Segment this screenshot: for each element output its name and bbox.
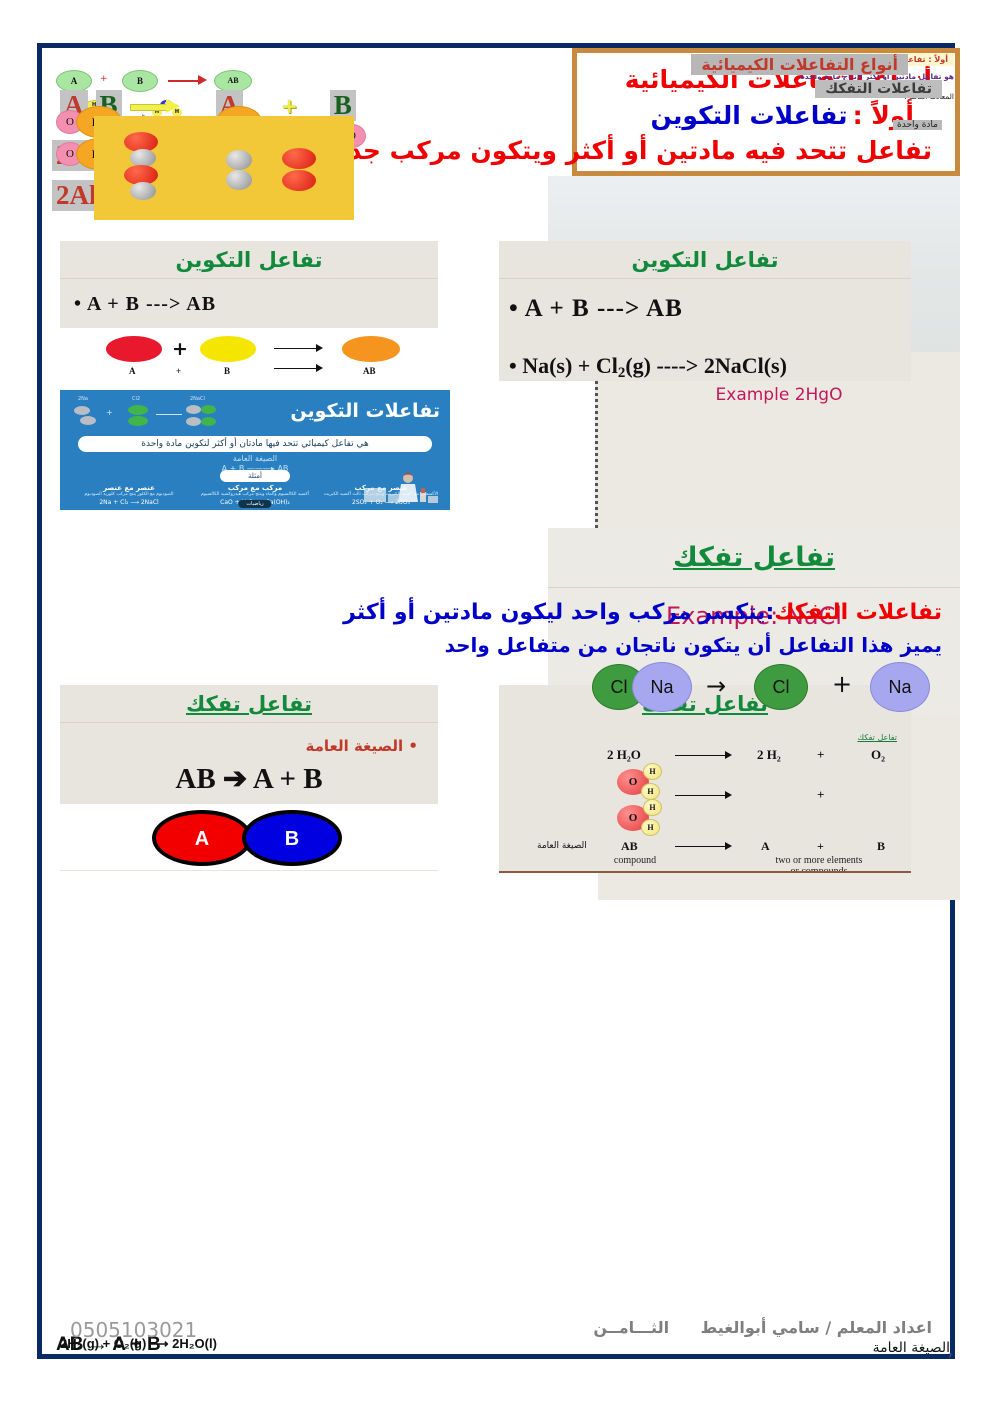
arrow-top bbox=[274, 348, 318, 349]
equations-banner: أنواع التفاعلات الكيميائية bbox=[691, 54, 908, 75]
arrow-top-head bbox=[316, 344, 323, 352]
footer-credit: اعداد المعلم / سامي أبوالغيط الثـــامــن bbox=[593, 1318, 932, 1337]
nacl-na-1 bbox=[186, 405, 201, 414]
nacl-cl-1 bbox=[201, 405, 216, 414]
dec-left-small-label: تفاعل تفكك bbox=[857, 733, 897, 742]
hydrogen-atom-1: H bbox=[643, 763, 662, 780]
slide-circle-b: B bbox=[122, 70, 158, 92]
hydrogen-atom-4: H bbox=[641, 819, 660, 836]
dec-right-equation: AB ➔ A + B bbox=[60, 761, 438, 796]
column-equation: 2Na + Cl₂ ⟶ 2NaCl bbox=[66, 499, 192, 506]
dec-left-plus-3: + bbox=[817, 839, 824, 854]
formation-right-title: تفاعل التكوين bbox=[60, 241, 438, 272]
formation-panel-shapes: تفاعل التكوين • A + B ---> AB A + + B AB bbox=[60, 241, 438, 381]
nacl-na-2 bbox=[186, 417, 201, 426]
mol-label-cl2: Cl2 bbox=[132, 396, 140, 402]
infographic-molecules: 2Na + Cl2 2NaCl bbox=[70, 396, 270, 438]
cl-atom-2 bbox=[128, 416, 148, 426]
plus-sign-bottom: + bbox=[176, 366, 181, 376]
nacl-cl-2 bbox=[201, 417, 216, 426]
hgo-example: Example 2HgO bbox=[598, 385, 960, 405]
water-plus-2: + bbox=[817, 787, 824, 803]
formation-infographic: تفاعلات التكوين 2Na + Cl2 2NaCl هي تفاعل… bbox=[60, 390, 450, 510]
water-product-h2: 2 H₂ bbox=[757, 747, 781, 763]
bead-gray-3 bbox=[226, 150, 252, 170]
na-atom-1 bbox=[74, 406, 90, 415]
infographic-definition: هي تفاعل كيميائي تتحد فيها مادتان أو أكث… bbox=[78, 436, 432, 452]
infographic-title: تفاعلات التكوين bbox=[290, 400, 440, 422]
dec-arrow-1-head bbox=[725, 751, 732, 759]
dec-arrow-3-head bbox=[725, 842, 732, 850]
bead-gray-2 bbox=[130, 182, 156, 200]
water-product-o2: O₂ bbox=[871, 747, 885, 763]
plus-1: + bbox=[281, 94, 298, 118]
slide-circle-ab: AB bbox=[214, 70, 252, 92]
column-heading: عنصر مع عنصر bbox=[66, 484, 192, 492]
ellipse-ab bbox=[342, 336, 400, 362]
decomposition-heading-line-1: تفاعلات التفكك:يتكسر مركب واحد ليكون ماد… bbox=[224, 596, 942, 629]
dec-arrow-1 bbox=[675, 755, 727, 756]
dec-arrow-3 bbox=[675, 846, 727, 847]
yellow-arrow-1 bbox=[130, 101, 182, 111]
dec-right-general-label: • الصيغة العامة bbox=[60, 723, 438, 755]
bead-red-3 bbox=[282, 148, 316, 169]
decomposition-sep: : bbox=[765, 600, 774, 625]
decomposition-heading: تفاعلات التفكك:يتكسر مركب واحد ليكون ماد… bbox=[224, 596, 942, 661]
caption-compound: compound bbox=[595, 855, 675, 866]
formation-shape-diagram: A + + B AB bbox=[60, 328, 438, 381]
arrow-bottom-head bbox=[316, 364, 323, 372]
nacl-na-free: Na bbox=[870, 662, 930, 712]
bead-red-4 bbox=[282, 170, 316, 191]
formation-left-title: تفاعل التكوين bbox=[499, 241, 911, 272]
nacl-plus: + bbox=[832, 670, 852, 698]
eq-pre: • Na(s) + Cl bbox=[509, 353, 618, 378]
ellipse-a bbox=[106, 336, 162, 362]
formation-general-equation: • A + B ---> AB bbox=[509, 295, 911, 323]
column-desc: الصوديوم مع الكلور ينتج مركب كلوريد الصو… bbox=[66, 492, 192, 498]
ellipse-b bbox=[200, 336, 256, 362]
nacl-na-bound: Na bbox=[632, 662, 692, 712]
dec-left-ab: AB bbox=[621, 839, 638, 854]
lobe-b: B bbox=[242, 810, 342, 866]
slide-arrow-head bbox=[198, 75, 207, 85]
nacl-cl-free: Cl bbox=[754, 664, 808, 710]
mol-plus: + bbox=[106, 408, 113, 417]
arrow-bottom bbox=[274, 368, 318, 369]
infographic-examples-pill: أمثلة bbox=[220, 470, 290, 482]
ellipse-ab-label: AB bbox=[363, 366, 376, 376]
hydrogen-atom-2: H bbox=[641, 783, 660, 800]
slide-circle-a: A bbox=[56, 70, 92, 92]
infographic-column: عنصر مع عنصر الصوديوم مع الكلور ينتج مرك… bbox=[66, 484, 192, 506]
title-line-2-main: تفاعلات التكوين bbox=[651, 101, 848, 130]
eq-post: (g) ----> 2NaCl(s) bbox=[625, 353, 787, 378]
footer-teacher: اعداد المعلم / سامي أبوالغيط bbox=[701, 1318, 932, 1337]
infographic-arrow bbox=[156, 414, 182, 415]
water-reactant: 2 H₂O bbox=[607, 747, 641, 763]
lobe-a: A bbox=[152, 810, 252, 866]
decomposition-title: تفاعلات التفكك bbox=[774, 600, 942, 625]
equations-note: مادة واحدة bbox=[893, 120, 942, 130]
dec-right-title: تفاعل تفكك bbox=[60, 685, 438, 716]
dec-left-general-label: الصيغة العامة bbox=[537, 841, 587, 851]
hydrogen-atom-3: H bbox=[643, 799, 662, 816]
mol-label-2na: 2Na bbox=[78, 396, 88, 402]
page-frame: أنواع التفاعلات الكيميائية أولاً : تفاعل… bbox=[37, 43, 955, 1359]
dec-right-lobes: A B bbox=[60, 804, 438, 870]
formation-example-equation: • Na(s) + Cl2(g) ----> 2NaCl(s) bbox=[509, 353, 911, 381]
slide-plus: + bbox=[100, 74, 108, 84]
ellipse-b-label: B bbox=[224, 366, 230, 376]
infographic-badge: رياضيات bbox=[238, 500, 271, 508]
na-atom-2 bbox=[80, 416, 96, 425]
ellipse-a-label: A bbox=[129, 366, 136, 376]
nacl-diagram: Cl Na → Cl + Na bbox=[548, 656, 960, 726]
footer: اعداد المعلم / سامي أبوالغيط الثـــامــن… bbox=[42, 1318, 960, 1348]
plus-sign-top: + bbox=[172, 338, 188, 360]
divider bbox=[499, 278, 911, 279]
nacl-arrow: → bbox=[706, 672, 726, 700]
nacl-title: تفاعل تفكك bbox=[548, 528, 960, 573]
column-heading: مركب مع مركب bbox=[192, 484, 318, 492]
mol-label-2nacl: 2NaCl bbox=[190, 396, 205, 402]
dec-arrow-2 bbox=[675, 795, 727, 796]
dec-left-b: B bbox=[877, 839, 885, 854]
water-plus-1: + bbox=[817, 747, 824, 763]
slide-arrow bbox=[168, 80, 200, 82]
decomposition-desc: يتكسر مركب واحد ليكون مادتين أو أكثر bbox=[343, 600, 765, 625]
dec-arrow-2-head bbox=[725, 791, 732, 799]
formation-general-equation-2: • A + B ---> AB bbox=[74, 293, 438, 316]
formation-panel-equations: تفاعل التكوين • A + B ---> AB • Na(s) + … bbox=[499, 241, 911, 381]
equations-banner-2: تفاعلات التفكك bbox=[815, 80, 942, 98]
footer-grade: الثـــامــن bbox=[593, 1318, 669, 1337]
molecule-model-photo bbox=[94, 116, 354, 220]
scientist-illustration-icon bbox=[362, 468, 442, 506]
bead-gray-4 bbox=[226, 170, 252, 190]
divider bbox=[60, 278, 438, 279]
caption-elements: two or more elements or compounds bbox=[739, 855, 899, 873]
dec-left-a: A bbox=[761, 839, 770, 854]
infographic-formula-label: الصيغة العامة bbox=[60, 454, 450, 464]
cl-atom-1 bbox=[128, 405, 148, 415]
divider bbox=[548, 587, 960, 588]
column-desc: أكسيد الكالسيوم والماء وينتج مركب هيدروك… bbox=[192, 492, 318, 498]
decomposition-panel-general: تفاعل تفكك • الصيغة العامة AB ➔ A + B A … bbox=[60, 685, 438, 871]
footer-phone: 0505103021 bbox=[70, 1318, 197, 1342]
